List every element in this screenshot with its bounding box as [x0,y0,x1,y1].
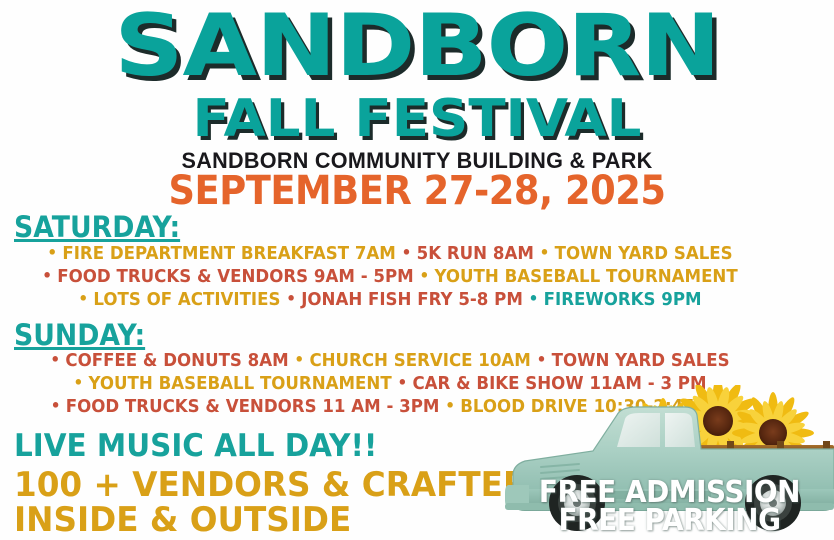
schedule-item-label: FIREWORKS 9PM [544,290,702,310]
schedule-item-label: CHURCH SERVICE 10AM [309,351,530,371]
live-music-callout: LIVE MUSIC ALL DAY!! [14,428,377,464]
schedule-item: • YOUTH BASEBALL TOURNAMENT [419,267,737,287]
vendors-callout-line-2: INSIDE & OUTSIDE [14,500,351,540]
schedule-item-label: TOWN YARD SALES [552,351,730,371]
bullet-icon: • [419,266,434,285]
schedule-item: • TOWN YARD SALES [537,351,730,371]
schedule-item: • LOTS OF ACTIVITIES [78,290,280,310]
vendors-callout-line-1: 100 + VENDORS & CRAFTERS [14,465,552,505]
bullet-icon: • [537,350,552,369]
festival-poster: SANDBORN FALL FESTIVAL SANDBORN COMMUNIT… [0,0,834,540]
schedule-item: • 5K RUN 8AM [402,244,534,264]
schedule-item-label: COFFEE & DONUTS 8AM [65,351,288,371]
schedule-item: • FOOD TRUCKS & VENDORS 11 AM - 3PM [51,397,440,417]
saturday-schedule-line-1: • FIRE DEPARTMENT BREAKFAST 7AM • 5K RUN… [20,243,761,264]
bullet-icon: • [51,396,66,415]
saturday-heading: SATURDAY: [14,210,180,244]
page-title: SANDBORN [0,6,834,88]
schedule-item: • FIRE DEPARTMENT BREAKFAST 7AM [47,244,396,264]
schedule-item-label: LOTS OF ACTIVITIES [93,290,280,310]
saturday-schedule-line-2: • FOOD TRUCKS & VENDORS 9AM - 5PM • YOUT… [20,266,761,287]
schedule-item: • TOWN YARD SALES [540,244,733,264]
bullet-icon: • [397,373,412,392]
schedule-item: • FIREWORKS 9PM [529,290,702,310]
schedule-item: • CHURCH SERVICE 10AM [294,351,530,371]
schedule-item-label: YOUTH BASEBALL TOURNAMENT [434,267,737,287]
schedule-item: • FOOD TRUCKS & VENDORS 9AM - 5PM [42,267,413,287]
schedule-item-label: 5K RUN 8AM [417,244,534,264]
bullet-icon: • [47,243,62,262]
schedule-item-label: FOOD TRUCKS & VENDORS 9AM - 5PM [57,267,413,287]
sunday-schedule-line-1: • COFFEE & DONUTS 8AM • CHURCH SERVICE 1… [20,350,761,371]
schedule-item-label: JONAH FISH FRY 5-8 PM [301,290,523,310]
bullet-icon: • [50,350,65,369]
bullet-icon: • [42,266,57,285]
schedule-item-label: FOOD TRUCKS & VENDORS 11 AM - 3PM [66,397,440,417]
date-text: SEPTEMBER 27-28, 2025 [33,168,800,214]
free-parking-text: FREE PARKING [517,503,823,538]
schedule-item: • JONAH FISH FRY 5-8 PM [286,290,523,310]
schedule-item-label: TOWN YARD SALES [555,244,733,264]
schedule-item: • COFFEE & DONUTS 8AM [50,351,288,371]
bullet-icon: • [294,350,309,369]
saturday-schedule-line-3: • LOTS OF ACTIVITIES • JONAH FISH FRY 5-… [20,289,761,310]
schedule-item-label: FIRE DEPARTMENT BREAKFAST 7AM [62,244,395,264]
schedule-item: • YOUTH BASEBALL TOURNAMENT [73,374,391,394]
bullet-icon: • [540,243,555,262]
sunday-heading: SUNDAY: [14,318,145,352]
page-subtitle: FALL FESTIVAL [0,93,834,145]
bullet-icon: • [78,289,93,308]
bullet-icon: • [286,289,301,308]
bullet-icon: • [402,243,417,262]
bullet-icon: • [73,373,88,392]
bullet-icon: • [445,396,460,415]
bullet-icon: • [529,289,544,308]
schedule-item-label: YOUTH BASEBALL TOURNAMENT [88,374,391,394]
